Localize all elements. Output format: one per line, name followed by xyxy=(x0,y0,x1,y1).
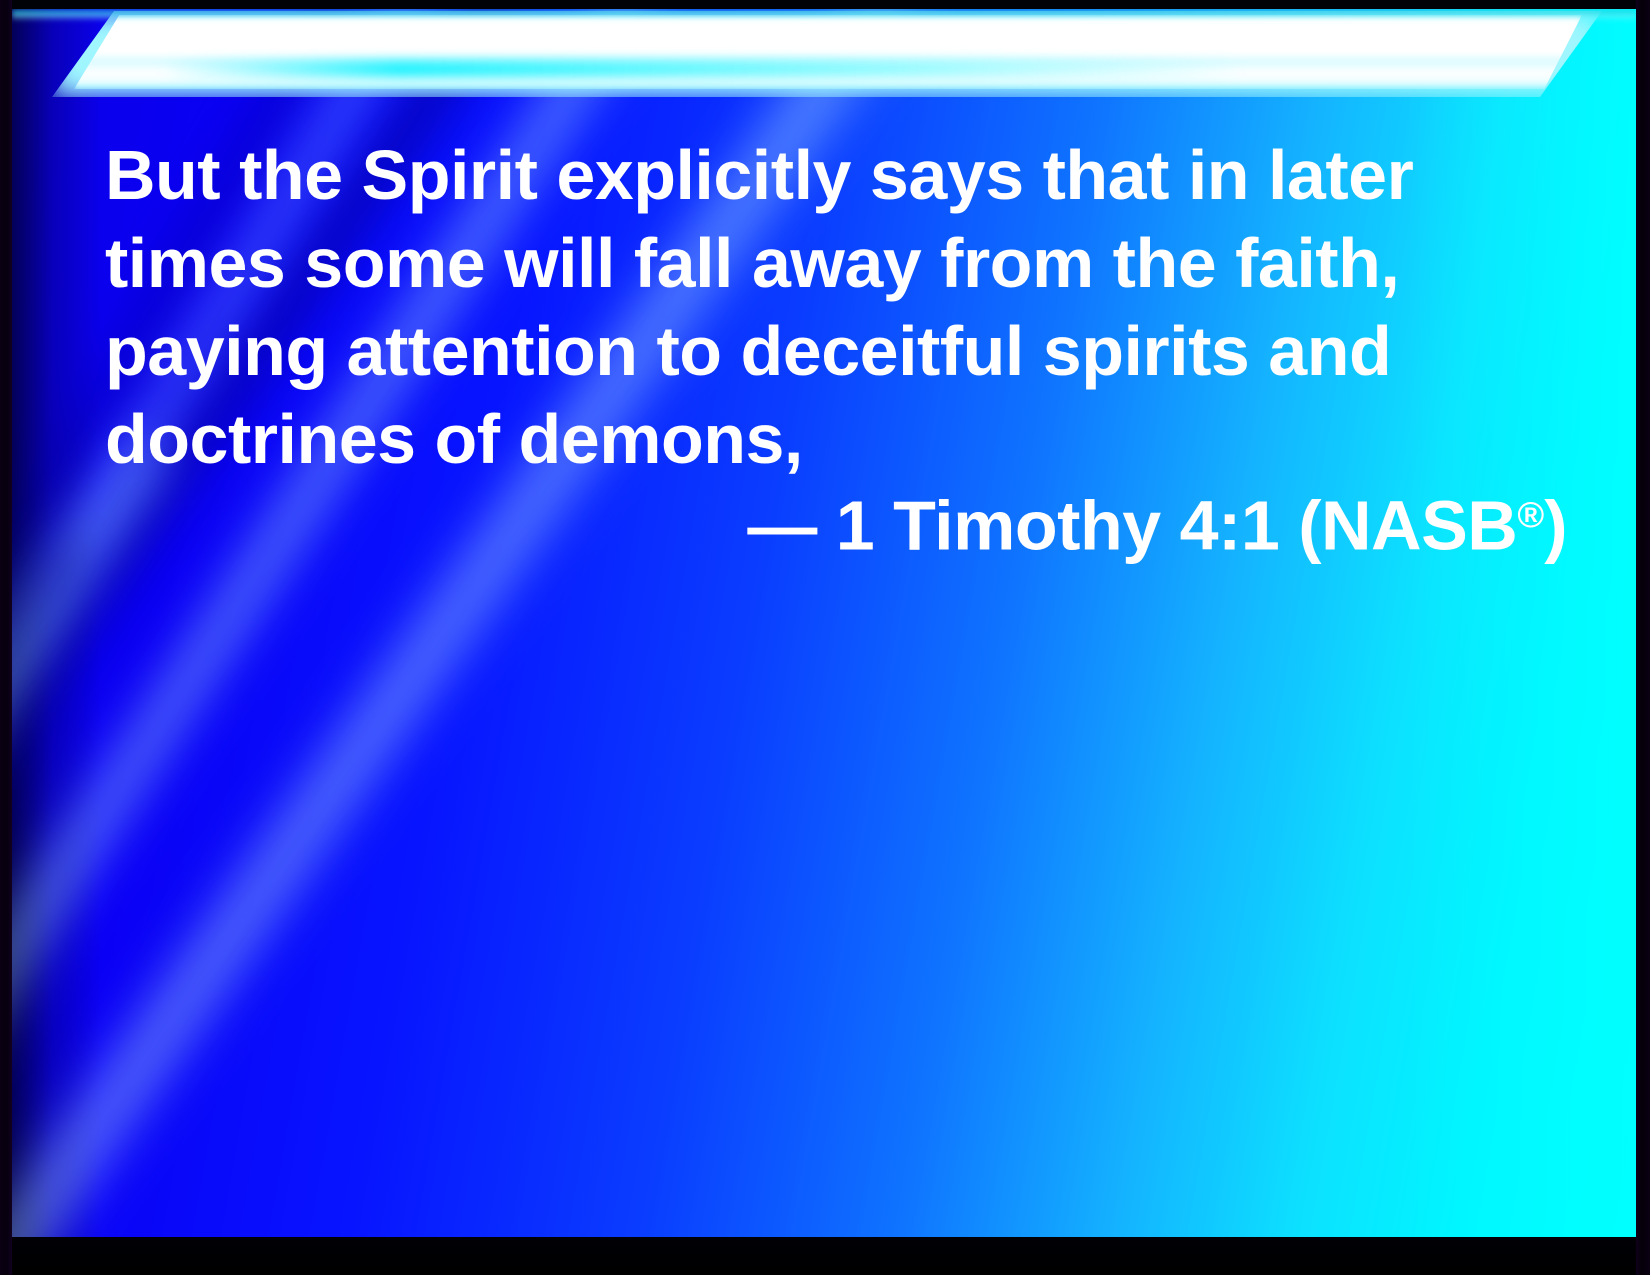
background-left-shade xyxy=(12,9,102,1237)
attribution-reference: 1 Timothy 4:1 (NASB xyxy=(817,487,1518,565)
frame-top-border xyxy=(0,0,1650,9)
verse-slide: But the Spirit explicitly says that in l… xyxy=(0,0,1650,1275)
banner-top-edge xyxy=(12,10,1636,20)
slide-background: But the Spirit explicitly says that in l… xyxy=(12,9,1636,1237)
frame-right-border xyxy=(1636,0,1650,1275)
banner-cyan-streak xyxy=(162,61,1242,77)
verse-text: But the Spirit explicitly says that in l… xyxy=(105,131,1565,483)
verse-attribution: — 1 Timothy 4:1 (NASB®) xyxy=(105,471,1567,570)
top-glow-banner xyxy=(12,9,1636,119)
attribution-dash: — xyxy=(747,487,817,565)
frame-bottom-border xyxy=(0,1237,1650,1275)
attribution-closing: ) xyxy=(1544,487,1567,565)
registered-trademark-icon: ® xyxy=(1517,494,1544,535)
banner-core xyxy=(74,15,1582,89)
frame-left-border xyxy=(0,0,12,1275)
